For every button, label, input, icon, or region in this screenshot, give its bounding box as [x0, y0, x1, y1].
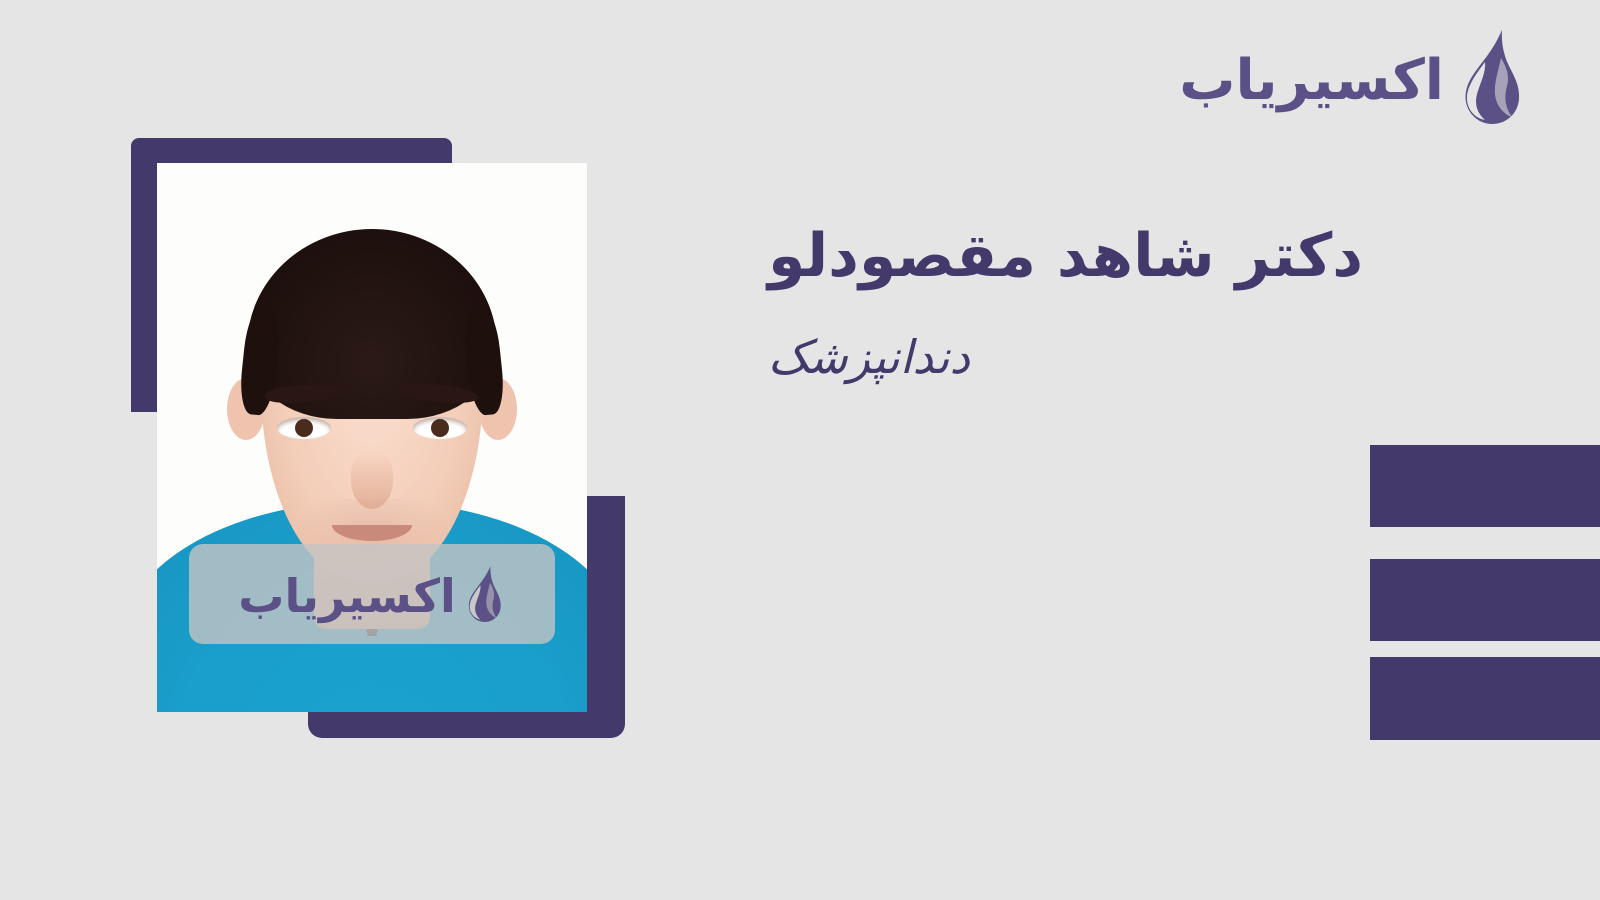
doctor-name: دکتر شاهد مقصودلو [768, 222, 1528, 291]
brand-logo[interactable]: اکسیریاب [1179, 28, 1528, 126]
watermark-flame-drop-icon [462, 563, 506, 625]
doctor-specialty: دندانپزشک [768, 330, 1528, 385]
brand-wordmark: اکسیریاب [1179, 53, 1444, 109]
accent-bar-2 [1370, 559, 1600, 641]
flame-drop-icon [1454, 28, 1528, 126]
photo-composition: اکسیریاب [0, 0, 700, 900]
profile-card: اکسیریاب دکتر شاهد مقصودلو دندانپزشک [0, 0, 1600, 900]
watermark-wordmark: اکسیریاب [238, 573, 456, 619]
photo-watermark: اکسیریاب [189, 544, 555, 644]
accent-bar-3 [1370, 657, 1600, 740]
doctor-photo: اکسیریاب [157, 163, 587, 712]
accent-bar-1 [1370, 445, 1600, 527]
